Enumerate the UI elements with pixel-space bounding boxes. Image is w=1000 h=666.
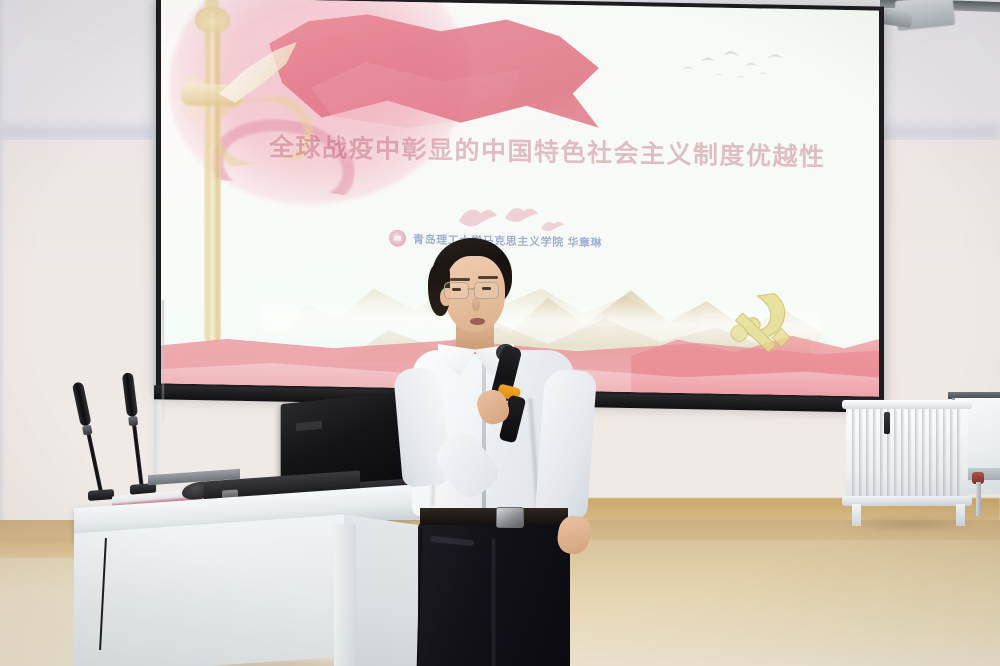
lectern-front-panel <box>74 515 344 666</box>
radiator-fin <box>929 404 933 504</box>
radiator-fin <box>901 404 905 504</box>
radiator-foot <box>956 504 965 526</box>
radiator-bottom-cap <box>842 496 972 506</box>
bird-flock-icon <box>671 43 801 87</box>
trouser-crease <box>492 538 495 666</box>
screen-mount-arm <box>881 8 913 28</box>
radiator-fin <box>873 404 877 504</box>
radiator-top-cap <box>842 400 972 409</box>
presenter-eyebrow-left <box>450 278 470 281</box>
lectern <box>74 484 434 666</box>
wall-seam-left <box>0 0 4 560</box>
presenter <box>400 238 620 666</box>
lectern-leg <box>334 523 356 666</box>
radiator-fin <box>922 404 926 504</box>
radiator-fin <box>950 404 954 504</box>
presenter-mouth <box>470 318 485 325</box>
microphone-base-left <box>88 489 114 501</box>
column-radiator <box>838 400 976 530</box>
radiator-pipe <box>976 482 981 516</box>
radiator-foot <box>852 504 861 526</box>
radiator-fin <box>908 404 912 504</box>
belt-buckle <box>496 507 524 528</box>
radiator-fin <box>866 404 870 504</box>
glasses-lens-right <box>474 282 499 299</box>
presenter-eye-right <box>482 287 491 290</box>
radiator-fin <box>936 404 940 504</box>
radiator-fin <box>943 404 947 504</box>
glasses-bridge <box>467 288 474 290</box>
party-emblem-icon <box>715 280 811 374</box>
presenter-eyebrow-right <box>478 276 498 279</box>
radiator-fin <box>894 404 898 504</box>
radiator-fin <box>859 404 863 504</box>
screenshot-root: 全球战疫中彰显的中国特色社会主义制度优越性 青岛理工大学马克思主义学院 华章琳 <box>0 0 1000 666</box>
huabiao-column-icon <box>204 12 221 342</box>
presenter-belt <box>420 508 568 525</box>
radiator-fin <box>915 404 919 504</box>
radiator-fin <box>957 404 961 504</box>
radiator-fin <box>852 404 856 504</box>
presenter-eye-left <box>452 288 461 291</box>
screen-pull-cord <box>162 300 164 420</box>
presenter-sleeve-right <box>535 368 597 519</box>
radiator-air-vent <box>884 412 890 434</box>
presenter-nose <box>472 298 480 311</box>
